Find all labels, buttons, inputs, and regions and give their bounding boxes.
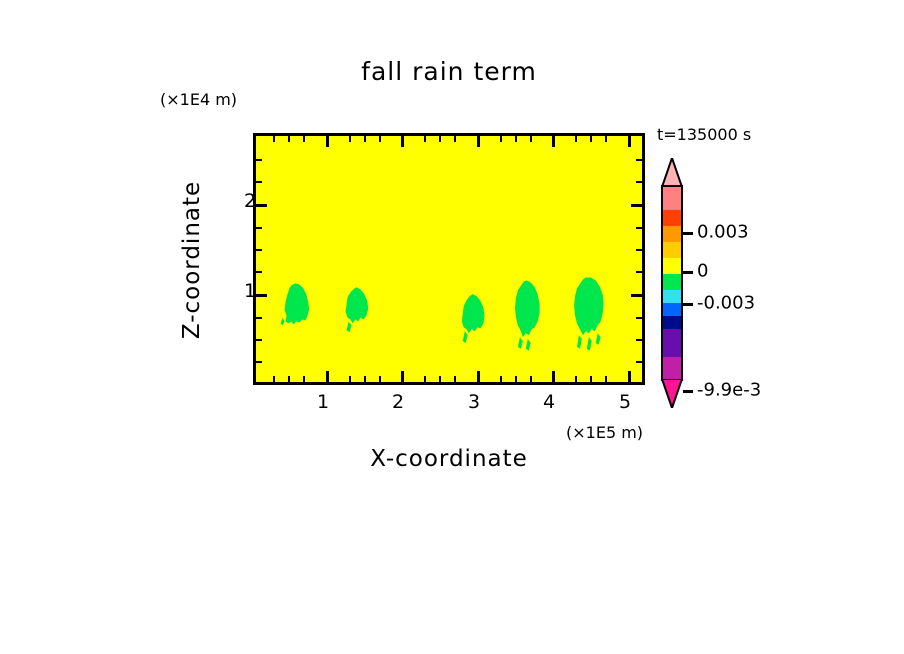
colorbar	[661, 158, 683, 406]
x-axis-unit-label: (×1E5 m)	[566, 423, 643, 442]
x-tick-label-2: 2	[392, 391, 404, 413]
colorbar-tick-2	[683, 303, 693, 306]
x-tick-top-minor	[349, 136, 351, 142]
y-tick-minor	[256, 361, 262, 363]
x-axis-title: X-coordinate	[253, 446, 645, 472]
x-tick-label-3: 3	[468, 391, 480, 413]
x-tick-minor	[515, 376, 517, 382]
x-tick-top-minor	[303, 136, 305, 142]
x-tick-minor	[379, 376, 381, 382]
chart-title: fall rain term	[253, 57, 645, 86]
x-tick-top-major	[401, 136, 404, 147]
y-tick-minor	[256, 317, 262, 319]
x-tick-top-minor	[439, 136, 441, 142]
y-tick-right-minor	[636, 317, 642, 319]
timestamp-annotation: t=135000 s	[657, 125, 751, 144]
colorbar-tick-1	[683, 271, 693, 274]
y-tick-right-major	[631, 294, 642, 297]
colorbar-band-2	[663, 226, 681, 242]
y-axis-title-text: Z-coordinate	[179, 181, 205, 339]
x-tick-label-1: 1	[317, 391, 329, 413]
x-tick-major-4	[552, 371, 555, 382]
colorbar-band-6	[663, 290, 681, 303]
x-tick-minor	[273, 376, 275, 382]
x-tick-minor	[605, 376, 607, 382]
colorbar-tick-3	[683, 390, 693, 393]
colorbar-band-7	[663, 303, 681, 316]
y-tick-right-minor	[636, 361, 642, 363]
y-tick-minor	[256, 249, 262, 251]
plot-area	[253, 133, 645, 385]
rain-cell-5	[574, 278, 604, 351]
x-tick-minor	[349, 376, 351, 382]
colorbar-band-3	[663, 242, 681, 258]
y-tick-major-1	[256, 294, 267, 297]
colorbar-band-5	[663, 274, 681, 290]
x-tick-major-1	[326, 371, 329, 382]
y-tick-right-minor	[636, 181, 642, 183]
colorbar-arrow-bottom	[661, 379, 683, 408]
y-tick-right-minor	[636, 227, 642, 229]
x-tick-top-minor	[500, 136, 502, 142]
y-tick-right-minor	[636, 339, 642, 341]
y-tick-minor	[256, 339, 262, 341]
x-tick-top-minor	[379, 136, 381, 142]
y-tick-minor	[256, 181, 262, 183]
y-tick-right-minor	[636, 249, 642, 251]
x-tick-minor	[303, 376, 305, 382]
x-tick-top-minor	[364, 136, 366, 142]
x-tick-major-5	[628, 371, 631, 382]
y-tick-minor	[256, 271, 262, 273]
x-tick-top-minor	[273, 136, 275, 142]
x-tick-top-minor	[288, 136, 290, 142]
x-tick-top-minor	[515, 136, 517, 142]
colorbar-label-3: -9.9e-3	[697, 380, 761, 401]
colorbar-bands	[661, 185, 683, 381]
y-tick-minor	[256, 227, 262, 229]
y-axis-title: Z-coordinate	[179, 165, 205, 355]
x-tick-minor	[575, 376, 577, 382]
y-tick-right-minor	[636, 271, 642, 273]
x-tick-top-major	[552, 136, 555, 147]
x-tick-label-5: 5	[619, 391, 631, 413]
x-tick-top-major	[628, 136, 631, 147]
y-tick-minor	[256, 159, 262, 161]
colorbar-label-0: 0.003	[697, 222, 749, 243]
x-tick-minor	[454, 376, 456, 382]
x-tick-top-minor	[605, 136, 607, 142]
y-tick-right-minor	[636, 159, 642, 161]
x-tick-top-major	[326, 136, 329, 147]
x-tick-minor	[288, 376, 290, 382]
x-tick-major-3	[477, 371, 480, 382]
x-tick-top-minor	[530, 136, 532, 142]
x-tick-minor	[424, 376, 426, 382]
colorbar-band-4	[663, 258, 681, 274]
colorbar-label-1: 0	[697, 261, 708, 282]
x-tick-top-major	[477, 136, 480, 147]
field-background	[256, 136, 642, 382]
colorbar-label-2: -0.003	[697, 293, 755, 314]
colorbar-arrow-top	[661, 158, 683, 187]
x-tick-minor	[500, 376, 502, 382]
y-tick-label-1: 1	[244, 280, 256, 302]
x-tick-top-minor	[454, 136, 456, 142]
y-tick-major-2	[256, 204, 267, 207]
colorbar-band-1	[663, 210, 681, 226]
x-tick-top-minor	[590, 136, 592, 142]
y-tick-right-major	[631, 204, 642, 207]
x-tick-major-2	[401, 371, 404, 382]
x-tick-minor	[364, 376, 366, 382]
x-tick-minor	[439, 376, 441, 382]
y-axis-unit-label: (×1E4 m)	[160, 90, 237, 109]
x-tick-label-4: 4	[543, 391, 555, 413]
colorbar-tick-0	[683, 232, 693, 235]
colorbar-band-9	[663, 329, 681, 357]
colorbar-band-0	[663, 187, 681, 210]
heatmap-field	[256, 136, 642, 382]
x-tick-top-minor	[424, 136, 426, 142]
y-tick-label-2: 2	[244, 190, 256, 212]
figure-canvas: fall rain term (×1E4 m) t=135000 s Z-coo…	[0, 0, 904, 654]
x-tick-minor	[590, 376, 592, 382]
x-tick-top-minor	[575, 136, 577, 142]
x-tick-minor	[530, 376, 532, 382]
colorbar-band-8	[663, 316, 681, 329]
